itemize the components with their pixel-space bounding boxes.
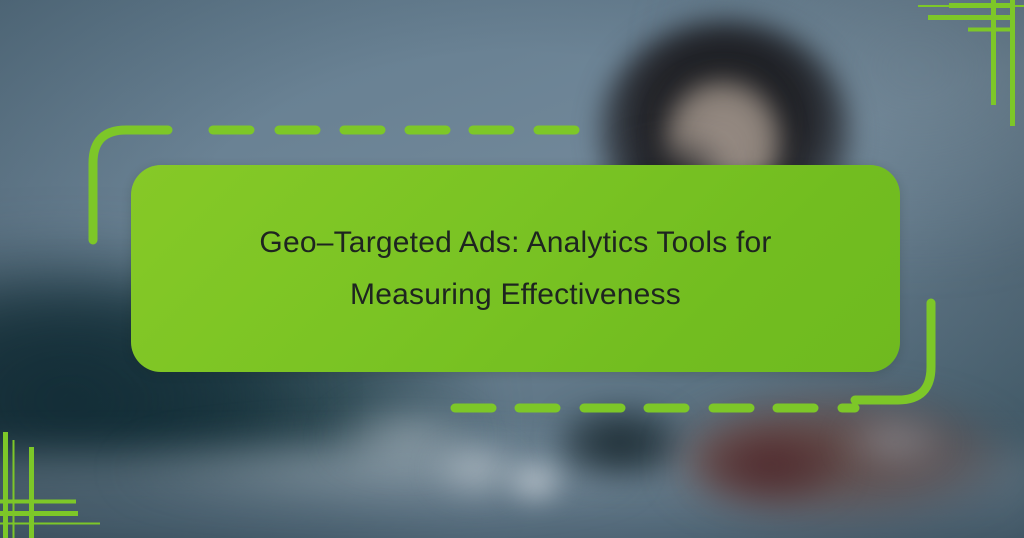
- banner-canvas: Geo–Targeted Ads: Analytics Tools for Me…: [0, 0, 1024, 538]
- page-title: Geo–Targeted Ads: Analytics Tools for Me…: [259, 217, 771, 321]
- title-card: Geo–Targeted Ads: Analytics Tools for Me…: [131, 165, 900, 372]
